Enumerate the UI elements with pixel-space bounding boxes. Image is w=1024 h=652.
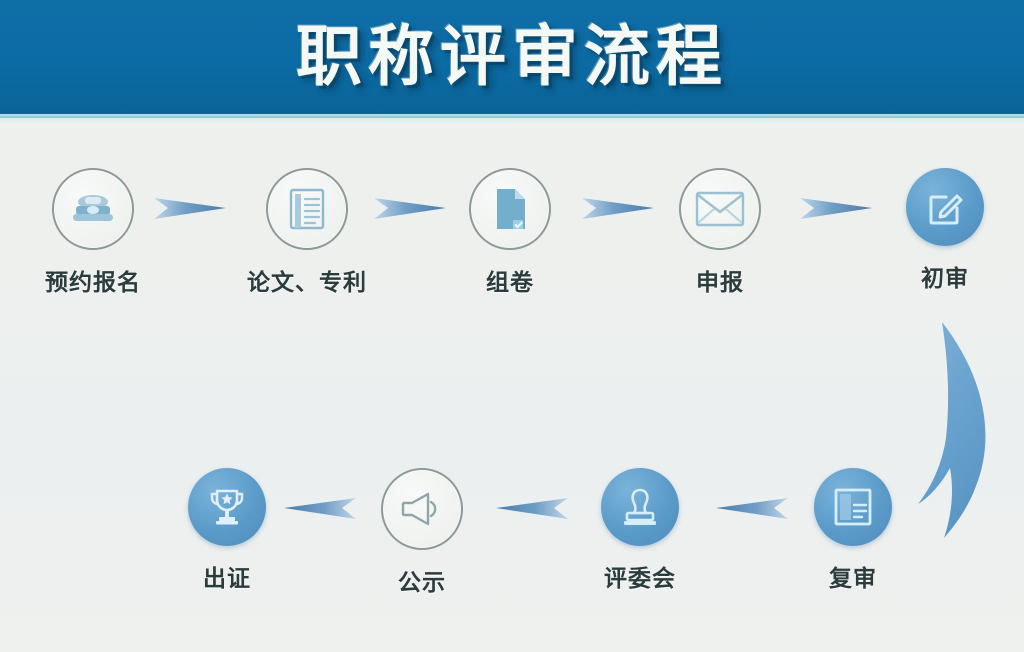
edit-square-icon (923, 185, 967, 229)
step-2-circle (266, 168, 348, 250)
step-1-label: 预约报名 (23, 263, 163, 297)
document-review-icon (831, 485, 875, 529)
flow-node-step-6[interactable]: 复审 (783, 468, 923, 593)
step-3-circle (469, 168, 551, 250)
step-9-circle (188, 468, 266, 546)
flow-diagram-page: 职称评审流程 预约报名 (0, 0, 1024, 652)
step-8-label: 公示 (352, 563, 492, 597)
flow-node-step-5[interactable]: 初审 (875, 168, 1015, 293)
file-page-icon (489, 186, 531, 232)
flow-node-step-4[interactable]: 申报 (650, 168, 790, 297)
step-7-label: 评委会 (570, 559, 710, 593)
connector-arrow-right-3 (580, 186, 660, 230)
step-5-label: 初审 (875, 259, 1015, 293)
page-title: 职称评审流程 (296, 24, 728, 94)
step-8-circle (381, 468, 463, 550)
flow-node-step-2[interactable]: 论文、专利 (237, 168, 377, 297)
stamp-icon (619, 485, 661, 529)
step-3-label: 组卷 (440, 263, 580, 297)
step-7-circle (601, 468, 679, 546)
step-6-circle (814, 468, 892, 546)
step-4-label: 申报 (650, 263, 790, 297)
step-2-label: 论文、专利 (237, 263, 377, 297)
megaphone-icon (398, 490, 446, 528)
connector-arrow-left-2 (490, 486, 570, 530)
step-6-label: 复审 (783, 559, 923, 593)
flow-node-step-3[interactable]: 组卷 (440, 168, 580, 297)
document-lines-icon (285, 186, 329, 232)
step-9-label: 出证 (157, 559, 297, 593)
step-1-circle (52, 168, 134, 250)
connector-arrow-right-4 (798, 186, 878, 230)
flow-node-step-7[interactable]: 评委会 (570, 468, 710, 593)
trophy-icon (205, 485, 249, 529)
telephone-icon (69, 188, 117, 230)
flow-node-step-9[interactable]: 出证 (157, 468, 297, 593)
connector-arrow-right-1 (152, 186, 232, 230)
banner-underglow (0, 114, 1024, 124)
connector-arrow-left-1 (710, 486, 790, 530)
flow-node-step-1[interactable]: 预约报名 (23, 168, 163, 297)
step-5-circle (906, 168, 984, 246)
step-4-circle (679, 168, 761, 250)
envelope-icon (695, 190, 745, 228)
flow-node-step-8[interactable]: 公示 (352, 468, 492, 597)
page-banner: 职称评审流程 (0, 0, 1024, 118)
